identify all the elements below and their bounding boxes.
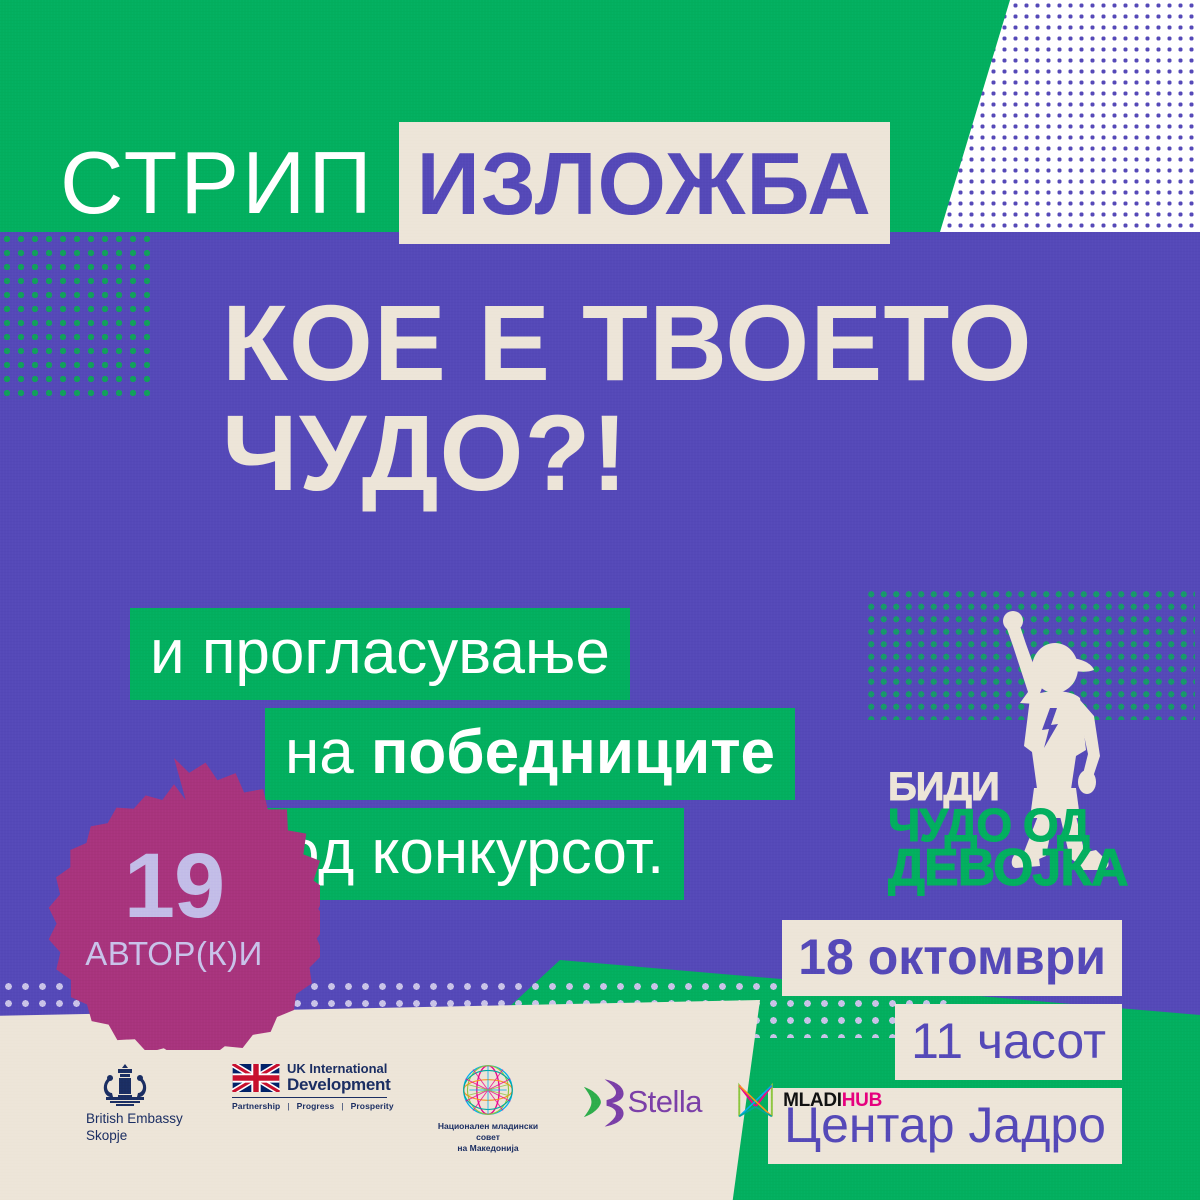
page-title: КОЕ Е ТВОЕТО ЧУДО?! [222, 288, 1033, 508]
subtitle-line-2: на победниците [265, 708, 795, 800]
sponsor-logo-row: British Embassy Skopje UK International … [86, 1062, 882, 1172]
uk-dev-divider [232, 1097, 387, 1098]
uk-dev-wordmark: UK International Development [287, 1062, 390, 1093]
authors-count-number: 19 [124, 845, 224, 928]
poster-canvas: СТРИП ИЗЛОЖБА КОЕ Е ТВОЕТО ЧУДО?! и прог… [0, 0, 1200, 1200]
brand-lockup-group: БИДИ ЧУДО ОД ДЕВОЈКА [880, 600, 1140, 900]
kicker-strip-word: СТРИП [60, 139, 399, 227]
headline-line-2: ЧУДО?! [222, 398, 1033, 508]
british-embassy-line-1: British Embassy [86, 1111, 183, 1128]
union-jack-icon [232, 1064, 280, 1092]
logo-stella: Stella [582, 1076, 702, 1128]
event-time: 11 часот [895, 1004, 1122, 1080]
uk-dev-line-1: UK International [287, 1062, 390, 1076]
logo-british-embassy: British Embassy Skopje [86, 1062, 198, 1145]
logo-mladihub: MLADIHUB [736, 1080, 882, 1122]
headline-line-1: КОЕ Е ТВОЕТО [222, 288, 1033, 398]
mladihub-part-1: MLADI [783, 1090, 842, 1111]
uk-dev-tag-1: Partnership [232, 1101, 280, 1111]
subtitle-line-2-plain: на [285, 718, 371, 787]
mladihub-mark-icon [736, 1080, 775, 1122]
globe-network-icon [460, 1062, 516, 1118]
stella-wordmark: Stella [627, 1084, 702, 1120]
mladihub-part-2: HUB [842, 1090, 882, 1111]
nmsm-text: Национален младински совет на Македонија [428, 1121, 548, 1154]
british-embassy-text: British Embassy Skopje [86, 1111, 183, 1145]
brand-line-3: ДЕВОЈКА [888, 846, 1118, 892]
stella-mark-icon [582, 1076, 625, 1128]
royal-crest-icon [96, 1062, 154, 1108]
nmsm-line-2: на Македонија [428, 1143, 548, 1154]
logo-national-youth-council: Национален младински совет на Македонија [428, 1062, 548, 1154]
halftone-dots-left [0, 232, 152, 404]
uk-dev-tagline: Partnership | Progress | Prosperity [232, 1101, 394, 1111]
subtitle-line-1: и прогласување [130, 608, 630, 700]
uk-dev-tag-sep-2: | [341, 1101, 343, 1111]
kicker-exhibition-word: ИЗЛОЖБА [399, 122, 890, 244]
event-date: 18 октомври [782, 920, 1122, 996]
uk-dev-line-2: Development [287, 1076, 390, 1094]
logo-uk-international-development: UK International Development Partnership… [232, 1062, 394, 1111]
brand-wordmark: БИДИ ЧУДО ОД ДЕВОЈКА [888, 770, 1118, 891]
subtitle-line-2-bold: победниците [371, 718, 775, 787]
subtitle-line-3: од конкурсот. [265, 808, 684, 900]
uk-dev-tag-3: Prosperity [351, 1101, 394, 1111]
authors-count-label: АВТОР(К)И [85, 935, 263, 973]
uk-dev-tag-2: Progress [297, 1101, 335, 1111]
uk-dev-tag-sep-1: | [287, 1101, 289, 1111]
mladihub-wordmark: MLADIHUB [783, 1090, 882, 1112]
kicker-row: СТРИП ИЗЛОЖБА [60, 122, 890, 244]
british-embassy-line-2: Skopje [86, 1128, 183, 1145]
uk-dev-top-row: UK International Development [232, 1062, 390, 1093]
nmsm-line-1: Национален младински совет [428, 1121, 548, 1143]
